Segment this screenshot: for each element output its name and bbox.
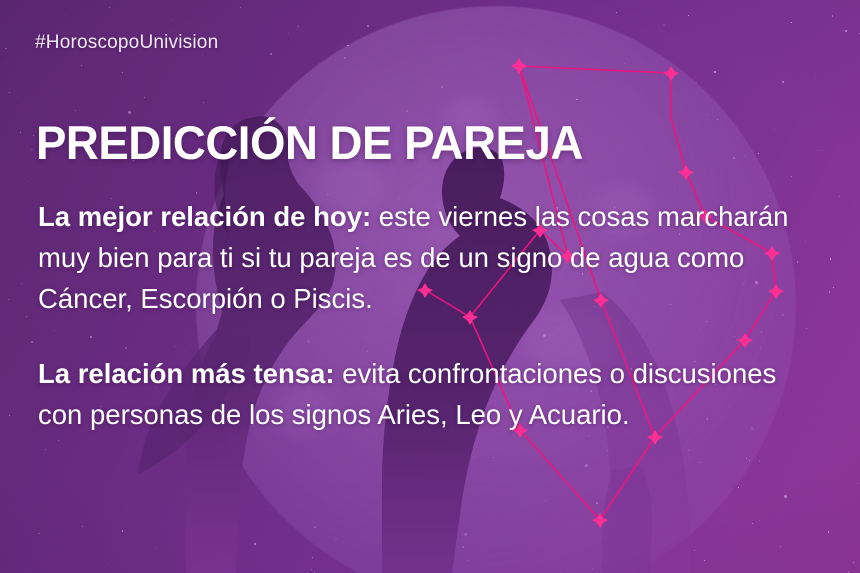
paragraph-best-match-lead: La mejor relación de hoy:	[38, 201, 371, 232]
content-layer: #HoroscopoUnivision PREDICCIÓN DE PAREJA…	[0, 0, 860, 573]
paragraph-best-match: La mejor relación de hoy: este viernes l…	[38, 196, 828, 319]
paragraph-tense-match: La relación más tensa: evita confrontaci…	[38, 353, 828, 435]
hashtag-label: #HoroscopoUnivision	[35, 32, 218, 54]
paragraph-tense-match-lead: La relación más tensa:	[38, 358, 335, 389]
prediction-body: La mejor relación de hoy: este viernes l…	[38, 196, 828, 435]
page-title: PREDICCIÓN DE PAREJA	[36, 119, 583, 166]
horoscope-card: #HoroscopoUnivision PREDICCIÓN DE PAREJA…	[0, 0, 860, 573]
